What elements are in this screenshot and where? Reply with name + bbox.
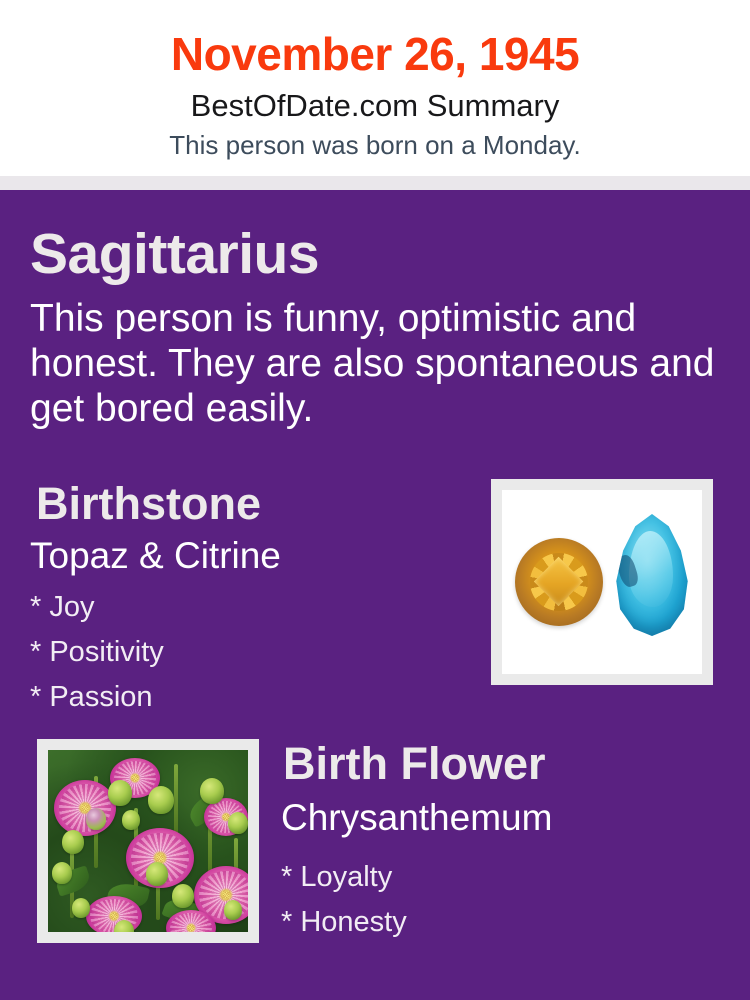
summary-card: November 26, 1945 BestOfDate.com Summary… [0,0,750,1000]
list-item: * Honesty [281,900,701,945]
birthstone-traits: * Joy * Positivity * Passion [30,585,450,720]
birth-flower-image [48,750,248,932]
page-title: November 26, 1945 [0,25,750,83]
list-item: * Loyalty [281,855,701,900]
site-summary-label: BestOfDate.com Summary [0,87,750,125]
header-divider [0,176,750,190]
birth-flower-image-frame [37,739,259,943]
birthstone-heading: Birthstone [36,478,261,530]
birth-flower-name: Chrysanthemum [281,795,552,840]
card-header: November 26, 1945 BestOfDate.com Summary… [0,0,750,176]
birth-flower-traits: * Loyalty * Honesty [281,855,701,945]
list-item: * Positivity [30,630,450,675]
zodiac-sign-title: Sagittarius [30,222,630,286]
citrine-gem-icon [515,538,603,626]
birthstone-image-frame [491,479,713,685]
zodiac-description: This person is funny, optimistic and hon… [30,296,730,431]
birthstone-image [502,490,702,674]
topaz-gem-icon [614,514,690,636]
born-day-note: This person was born on a Monday. [0,129,750,162]
list-item: * Joy [30,585,450,630]
list-item: * Passion [30,675,450,720]
birthstone-name: Topaz & Citrine [30,533,281,578]
birth-flower-heading: Birth Flower [283,738,546,790]
